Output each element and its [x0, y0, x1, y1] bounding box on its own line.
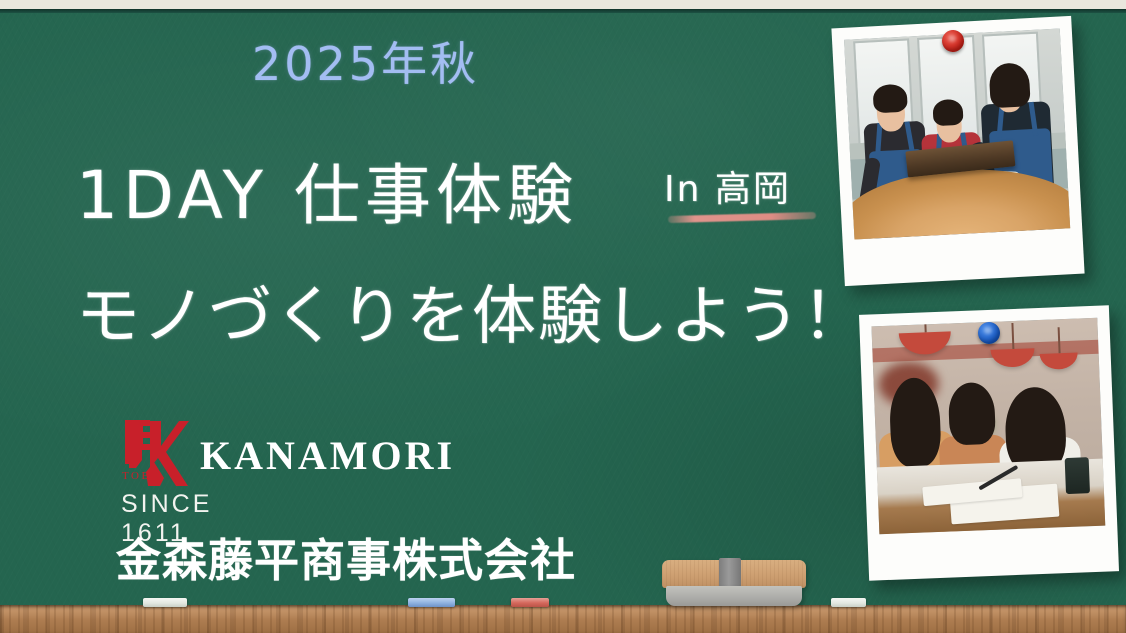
photo-meeting-image	[871, 318, 1105, 535]
chalk-ledge	[0, 605, 1126, 633]
company-name-text: 金森藤平商事株式会社	[116, 524, 576, 589]
board-top-shadow	[0, 9, 1126, 13]
year-season-text: 2025年秋	[252, 28, 479, 94]
k-mark-tobe-label: TOBE	[122, 470, 161, 482]
blue-chalk-icon	[408, 598, 455, 607]
poster-canvas: 2025年秋 1DAY 仕事体験 In 高岡 モノづくりを体験しよう！ TOBE…	[0, 0, 1126, 633]
kanamori-k-mark-icon: TOBE	[116, 416, 190, 492]
photo-card-casting	[831, 16, 1084, 286]
photo-casting-image	[844, 29, 1070, 240]
white-chalk-2-icon	[831, 598, 866, 607]
brand-wordmark: KANAMORI	[200, 432, 455, 479]
page-title: 1DAY 仕事体験	[76, 142, 578, 238]
blue-pin-icon	[978, 322, 1000, 344]
photo-card-meeting	[859, 305, 1119, 580]
location-text: In 高岡	[664, 160, 791, 212]
red-chalk-icon	[511, 598, 549, 607]
blackboard-eraser-icon	[662, 560, 806, 606]
top-frame-strip	[0, 0, 1126, 9]
subtitle-text: モノづくりを体験しよう！	[76, 265, 868, 357]
white-chalk-1-icon	[143, 598, 187, 607]
